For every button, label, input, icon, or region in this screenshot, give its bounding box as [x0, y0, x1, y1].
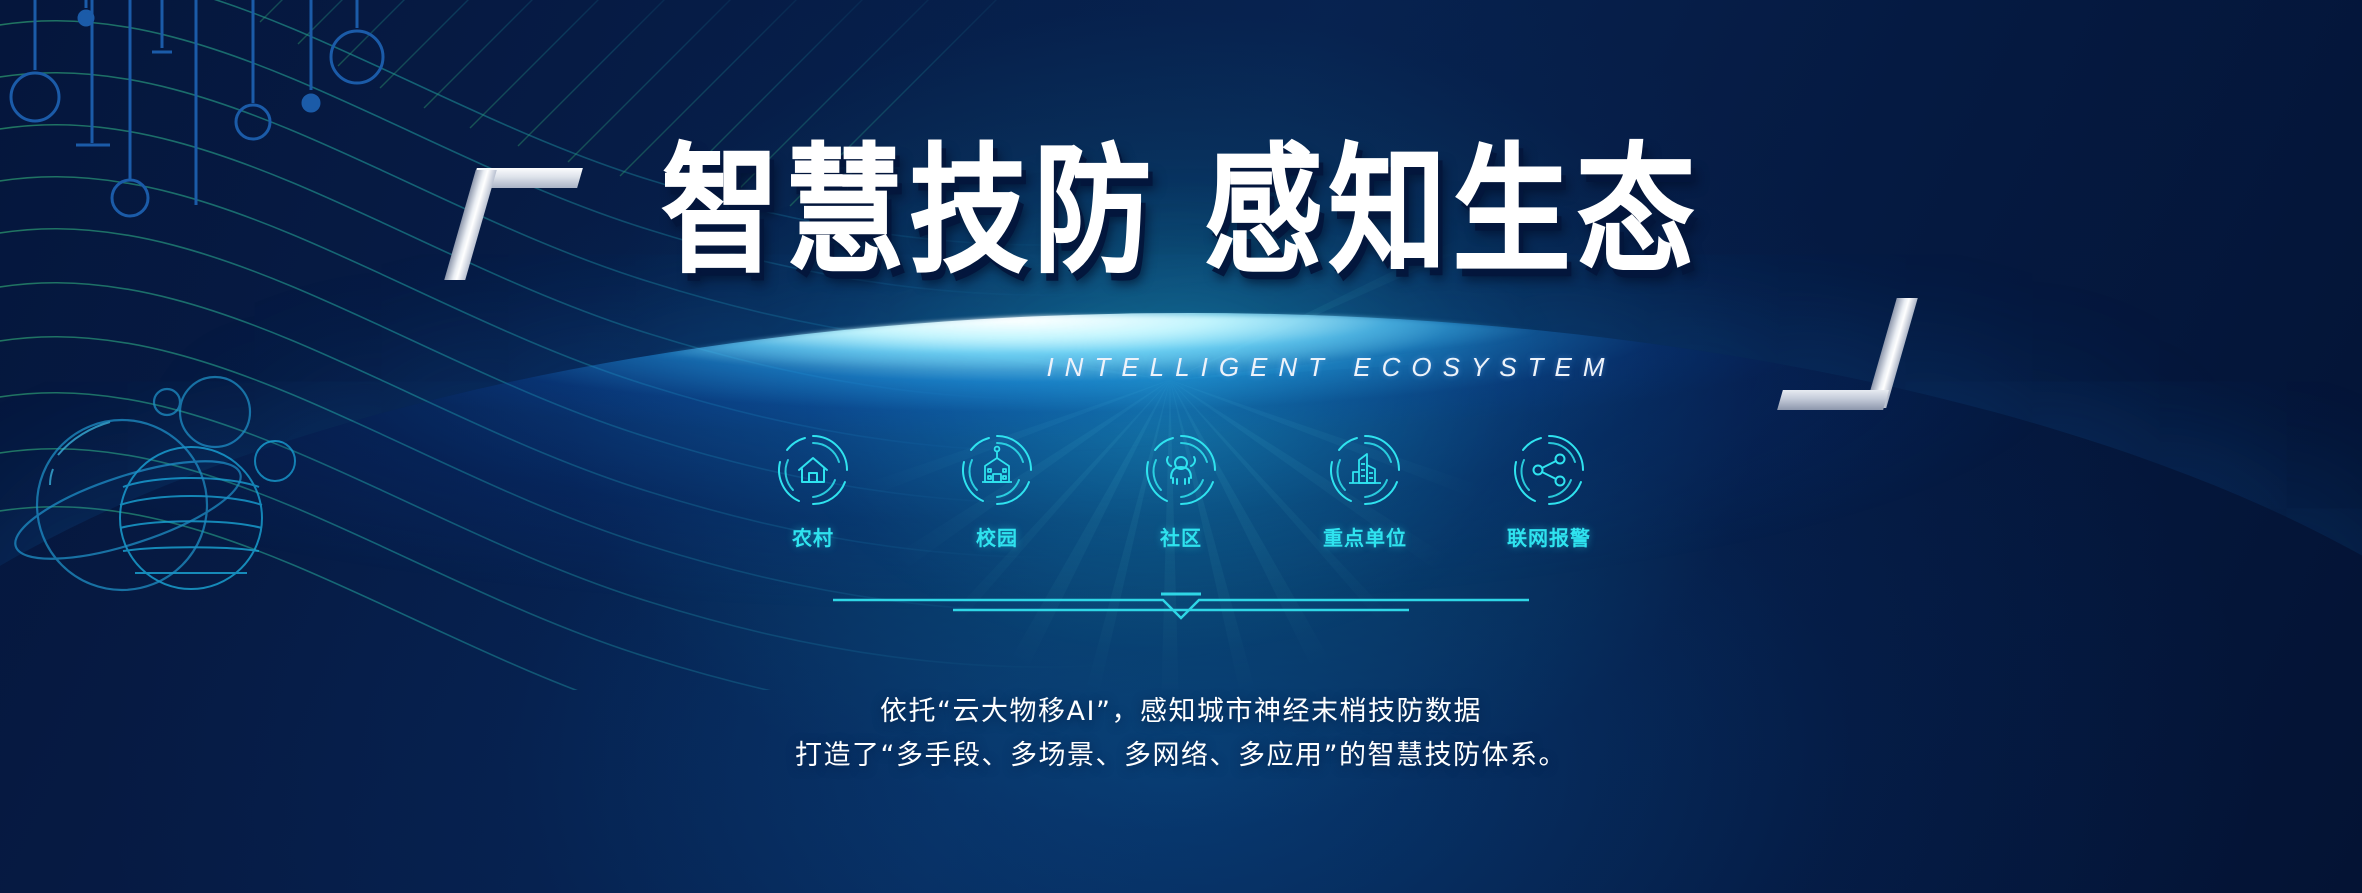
- category-label: 农村: [753, 522, 873, 551]
- icon-ring-arc: [1511, 432, 1587, 508]
- network-share-icon: [1534, 455, 1565, 486]
- community-people-icon: [1167, 457, 1195, 484]
- school-building-icon: [982, 447, 1012, 482]
- description-block: 依托“云大物移AI”，感知城市神经末梢技防数据 打造了“多手段、多场景、多网络、…: [0, 690, 2362, 777]
- category-label: 校园: [937, 522, 1057, 551]
- house-icon[interactable]: [775, 432, 851, 508]
- category-item-4[interactable]: 重点单位: [1305, 432, 1425, 551]
- network-share-icon[interactable]: [1511, 432, 1587, 508]
- category-label: 社区: [1121, 522, 1241, 551]
- description-line-2: 打造了“多手段、多场景、多网络、多应用”的智慧技防体系。: [0, 734, 2362, 778]
- school-building-icon[interactable]: [959, 432, 1035, 508]
- icon-ring-arc: [959, 432, 1035, 508]
- category-item-1[interactable]: 农村: [753, 432, 873, 551]
- city-buildings-icon: [1349, 454, 1381, 483]
- banner-root: 智慧技防 感知生态 INTELLIGENT ECOSYSTEM 农村校园社区重点…: [0, 0, 2362, 893]
- title-block: 智慧技防 感知生态: [0, 140, 2362, 260]
- icon-ring-arc: [1327, 432, 1403, 508]
- subtitle-block: INTELLIGENT ECOSYSTEM: [0, 352, 2362, 383]
- description-line-1: 依托“云大物移AI”，感知城市神经末梢技防数据: [0, 690, 2362, 734]
- icon-ring-arc: [775, 432, 851, 508]
- city-buildings-icon[interactable]: [1327, 432, 1403, 508]
- icon-ring-arc: [1143, 432, 1219, 508]
- category-item-5[interactable]: 联网报警: [1489, 432, 1609, 551]
- page-title: 智慧技防 感知生态: [661, 140, 1700, 282]
- category-item-2[interactable]: 校园: [937, 432, 1057, 551]
- category-item-3[interactable]: 社区: [1121, 432, 1241, 551]
- category-label: 联网报警: [1489, 522, 1609, 551]
- community-people-icon[interactable]: [1143, 432, 1219, 508]
- category-label: 重点单位: [1305, 522, 1425, 551]
- page-subtitle: INTELLIGENT ECOSYSTEM: [1046, 352, 1615, 383]
- category-icon-row: 农村校园社区重点单位联网报警: [0, 432, 2362, 551]
- v-notch-divider: [831, 588, 1531, 630]
- house-icon: [799, 458, 827, 482]
